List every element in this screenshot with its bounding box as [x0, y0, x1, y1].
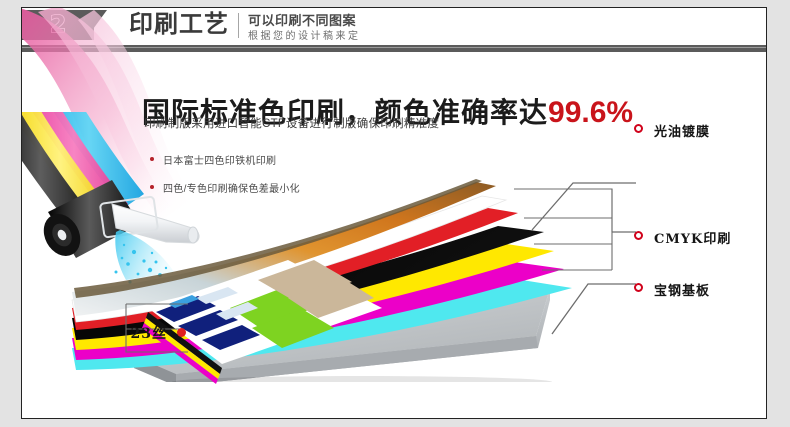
- header-subtitle-sub: 根据您的设计稿来定: [248, 27, 361, 42]
- list-item: 四色/专色印刷确保色差最小化: [150, 180, 300, 195]
- callout-marker-icon: [177, 328, 186, 337]
- page-root: 2 印刷工艺 可以印刷不同图案 根据您的设计稿来定: [0, 0, 790, 427]
- page-title-highlight: 99.6%: [548, 96, 633, 129]
- feature-bullet-list: 日本富士四色印铁机印刷 四色/专色印刷确保色差最小化: [150, 152, 300, 208]
- list-item: 日本富士四色印铁机印刷: [150, 152, 300, 167]
- callout-marker-icon: [634, 124, 643, 133]
- callout-marker-icon: [634, 231, 643, 240]
- callout-label: 23丝: [63, 323, 167, 343]
- header-divider: [238, 13, 239, 38]
- callout-label: CMYK印刷: [654, 228, 731, 247]
- page-subtitle: 印刷制版采用进口智能CTP设备进行制版确保印刷精准度: [144, 115, 439, 131]
- callout-label: 光油镀膜: [654, 121, 710, 140]
- callout-label: 宝钢基板: [654, 280, 710, 299]
- callout-marker-icon: [634, 283, 643, 292]
- content-panel: 2 印刷工艺 可以印刷不同图案 根据您的设计稿来定: [21, 7, 767, 419]
